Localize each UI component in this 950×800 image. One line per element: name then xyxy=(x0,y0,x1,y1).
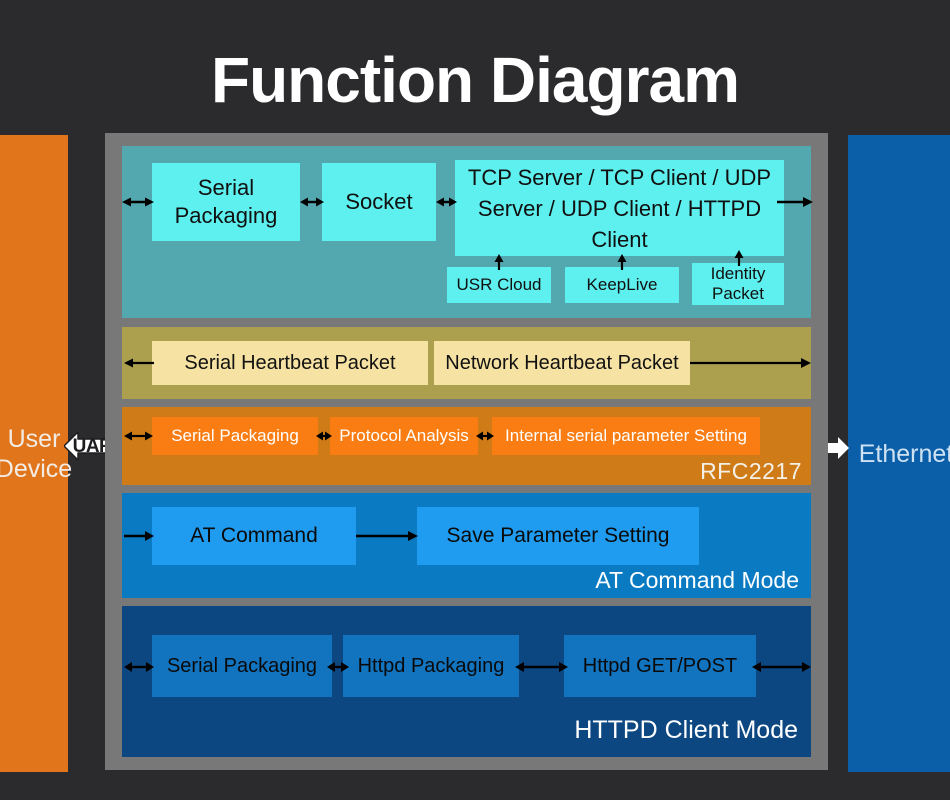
arrow-left-to-httpd-serial xyxy=(124,656,154,678)
box-internal-serial-parameter-setting[interactable]: Internal serial parameter Setting xyxy=(492,417,760,455)
box-network-heartbeat-packet[interactable]: Network Heartbeat Packet xyxy=(434,341,690,385)
arrow-httpd-get-post-to-right xyxy=(752,656,811,678)
box-network-protocols[interactable]: TCP Server / TCP Client / UDP Server / U… xyxy=(455,160,784,256)
arrow-httpd-packaging-to-get-post xyxy=(515,656,568,678)
ethernet-panel: Ethernet xyxy=(848,135,950,772)
box-serial-packaging-network[interactable]: Serial Packaging xyxy=(152,163,300,241)
box-usr-cloud[interactable]: USR Cloud xyxy=(447,267,551,303)
user-device-panel: User Device xyxy=(0,135,68,772)
httpd-band: Serial Packaging Httpd Packaging Httpd G… xyxy=(122,606,811,757)
box-httpd-packaging[interactable]: Httpd Packaging xyxy=(343,635,519,697)
network-band: Serial Packaging Socket TCP Server / TCP… xyxy=(122,146,811,318)
box-keeplive[interactable]: KeepLive xyxy=(565,267,679,303)
arrow-left-to-serial-packaging xyxy=(122,191,154,213)
user-device-label-line2: Device xyxy=(0,454,72,484)
box-httpd-serial-packaging[interactable]: Serial Packaging xyxy=(152,635,332,697)
box-rfc-serial-packaging[interactable]: Serial Packaging xyxy=(152,417,318,455)
heartbeat-band: Serial Heartbeat Packet Network Heartbea… xyxy=(122,327,811,399)
arrow-left-to-at-command xyxy=(124,526,154,546)
box-httpd-get-post[interactable]: Httpd GET/POST xyxy=(564,635,756,697)
arrow-left-to-serial-heartbeat xyxy=(124,353,154,373)
box-at-command[interactable]: AT Command xyxy=(152,507,356,565)
arrow-socket-to-protocols xyxy=(436,191,457,213)
box-socket[interactable]: Socket xyxy=(322,163,436,241)
ethernet-label: Ethernet xyxy=(845,439,950,469)
diagram-frame: Serial Packaging Socket TCP Server / TCP… xyxy=(105,133,828,770)
box-protocol-analysis[interactable]: Protocol Analysis xyxy=(330,417,478,455)
box-identity-packet[interactable]: Identity Packet xyxy=(692,263,784,305)
arrow-at-command-to-save-parameter xyxy=(356,526,418,546)
user-device-label-line1: User xyxy=(0,424,72,454)
rfc2217-band: Serial Packaging Protocol Analysis Inter… xyxy=(122,407,811,485)
rfc2217-mode-label: RFC2217 xyxy=(700,458,802,485)
box-serial-heartbeat-packet[interactable]: Serial Heartbeat Packet xyxy=(152,341,428,385)
box-save-parameter-setting[interactable]: Save Parameter Setting xyxy=(417,507,699,565)
httpd-client-mode-label: HTTPD Client Mode xyxy=(574,716,798,745)
page-title: Function Diagram xyxy=(0,44,950,116)
user-device-label: User Device xyxy=(0,424,72,484)
arrow-serial-packaging-to-socket xyxy=(300,191,324,213)
arrow-left-to-rfc-serial xyxy=(124,425,153,447)
at-command-band: AT Command Save Parameter Setting AT Com… xyxy=(122,493,811,598)
at-command-mode-label: AT Command Mode xyxy=(595,567,799,594)
arrow-network-heartbeat-to-right xyxy=(690,353,811,373)
